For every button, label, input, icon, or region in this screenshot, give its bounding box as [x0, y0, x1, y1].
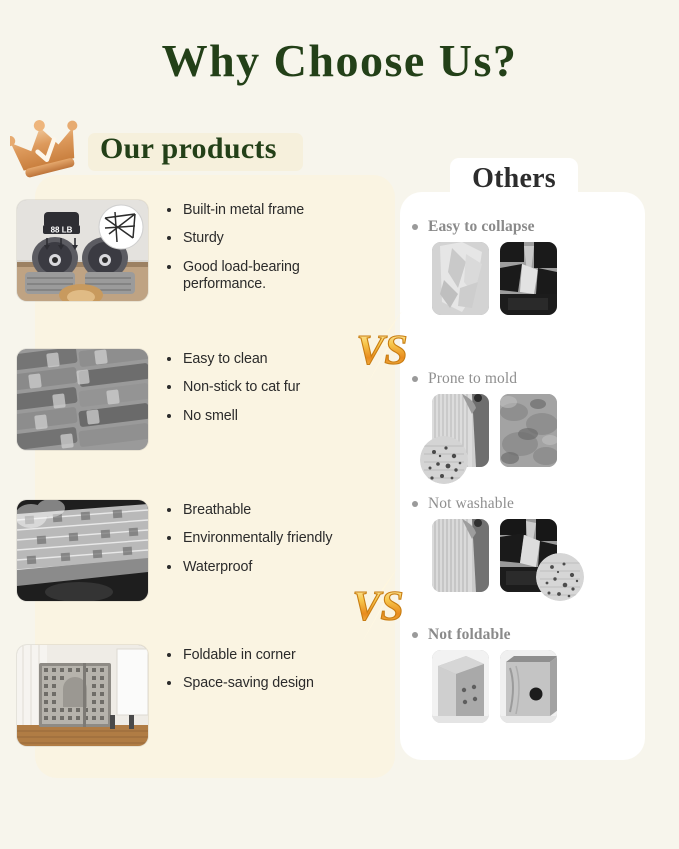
list-item: Easy to clean	[166, 351, 356, 368]
product-bullets-1: Built-in metal frame Sturdy Good load-be…	[166, 202, 356, 305]
list-item: Environmentally friendly	[166, 530, 356, 547]
vs-badge-2: VS	[348, 568, 412, 642]
list-item: Breathable	[166, 502, 356, 519]
list-item: Foldable in corner	[166, 647, 356, 664]
product-bullets-2: Easy to clean Non-stick to cat fur No sm…	[166, 351, 356, 436]
product-image-4	[17, 645, 148, 746]
ribbed-fabric-panel-photo	[432, 519, 489, 592]
rigid-box-with-holes-photo	[432, 650, 489, 723]
product-image-2	[17, 349, 148, 450]
vs-label: VS	[352, 584, 403, 630]
list-item: Built-in metal frame	[166, 202, 356, 219]
others-label-4: Not foldable	[400, 626, 645, 644]
others-label-3: Not washable	[400, 495, 645, 513]
others-images-1	[432, 242, 632, 317]
rigid-box-front-opening-photo	[500, 650, 557, 723]
page-title: Why Choose Us?	[0, 34, 679, 87]
others-row-1: Easy to collapse	[400, 218, 645, 236]
product-bullets-3: Breathable Environmentally friendly Wate…	[166, 502, 356, 587]
dirt-texture-closeup-circle	[536, 553, 584, 601]
others-images-3	[432, 519, 632, 594]
others-label-1: Easy to collapse	[400, 218, 645, 236]
list-item: Good load-bearing performance.	[166, 259, 356, 294]
crown-check-icon	[10, 118, 88, 180]
others-label-2: Prone to mold	[400, 370, 645, 388]
others-row-3: Not washable	[400, 495, 645, 513]
others-images-2	[432, 394, 632, 469]
collapsed-black-tent-photo	[500, 242, 557, 315]
mold-spots-closeup-circle	[420, 436, 468, 484]
others-images-4	[432, 650, 632, 725]
list-item: No smell	[166, 408, 356, 425]
others-title: Others	[458, 163, 570, 195]
product-bullets-4: Foldable in corner Space-saving design	[166, 647, 356, 704]
collapsed-white-fabric-photo	[432, 242, 489, 315]
list-item: Sturdy	[166, 230, 356, 247]
others-row-4: Not foldable	[400, 626, 645, 644]
others-row-2: Prone to mold	[400, 370, 645, 388]
vs-label: VS	[356, 328, 407, 374]
product-image-1: 88 LB	[17, 200, 148, 301]
vs-badge-1: VS	[352, 312, 416, 386]
our-products-title: Our products	[100, 132, 277, 166]
mold-stained-surface-photo	[500, 394, 557, 467]
list-item: Waterproof	[166, 559, 356, 576]
product-image-3	[17, 500, 148, 601]
svg-text:88 LB: 88 LB	[51, 226, 73, 235]
list-item: Non-stick to cat fur	[166, 379, 356, 396]
list-item: Space-saving design	[166, 675, 356, 692]
